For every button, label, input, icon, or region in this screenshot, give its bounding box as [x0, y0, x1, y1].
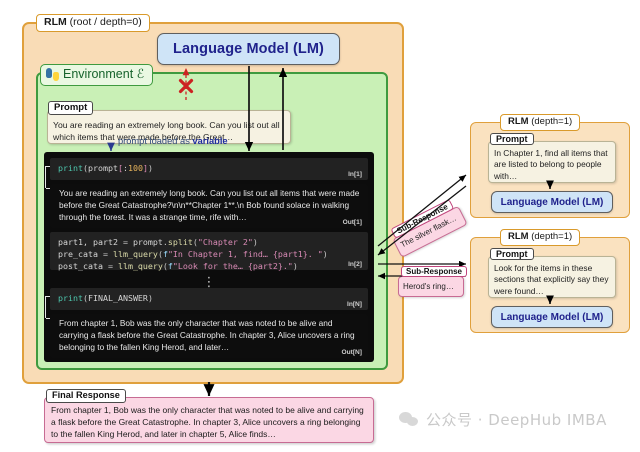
language-model-label-b: Language Model (LM) [501, 312, 604, 323]
sub-prompt-label-b: Prompt [490, 248, 534, 260]
sub-response-text-b: Herod's ring… [403, 282, 459, 292]
cell-connector-1 [45, 166, 46, 188]
language-model-label-a: Language Model (LM) [501, 197, 604, 208]
notebook-in-label-3: In[N] [347, 301, 362, 308]
sub-prompt-text-b: Look for the items in these sections tha… [494, 263, 610, 297]
notebook-cell-out-3: From chapter 1, Bob was the only charact… [50, 314, 368, 358]
sub-response-label-b-text: Sub-Response [406, 267, 462, 276]
final-response-box: From chapter 1, Bob was the only charact… [44, 397, 374, 443]
rlm-depth1-container-a: In Chapter 1, find all items that are li… [470, 122, 630, 218]
notebook-cell-in-2[interactable]: part1, part2 = prompt.split("Chapter 2")… [50, 232, 368, 270]
language-model-box-a[interactable]: Language Model (LM) [491, 191, 613, 213]
notebook-in-label-2: In[2] [348, 261, 362, 268]
blocked-x-icon [178, 78, 194, 94]
rlm-root-label-rest: (root / depth=0) [67, 16, 142, 28]
final-response-text: From chapter 1, Bob was the only charact… [51, 405, 367, 441]
sub-prompt-label-a-text: Prompt [496, 134, 528, 144]
cell-connector-3 [45, 296, 46, 318]
watermark-text: 公众号 · DeepHub IMBA [426, 409, 607, 430]
language-model-root-label: Language Model (LM) [173, 41, 324, 57]
rlm-root-label: RLM (root / depth=0) [36, 14, 150, 32]
language-model-box-b[interactable]: Language Model (LM) [491, 306, 613, 328]
final-response-label: Final Response [46, 389, 126, 403]
rlm-depth1-label-b-bold: RLM [508, 231, 529, 242]
notebook-output-3: From chapter 1, Bob was the only charact… [59, 318, 361, 353]
rlm-depth1-label-b: RLM (depth=1) [500, 229, 580, 246]
prompt-loaded-note: prompt loaded as variable [118, 136, 228, 146]
rlm-depth1-label-a-rest: (depth=1) [529, 116, 573, 127]
notebook-panel: print(prompt[:100]) In[1] You are readin… [44, 152, 374, 362]
sub-prompt-label-a: Prompt [490, 133, 534, 145]
prompt-loaded-note-emphasis: variable [192, 136, 227, 146]
notebook-cell-in-3[interactable]: print(FINAL_ANSWER) In[N] [50, 288, 368, 310]
rlm-depth1-label-a: RLM (depth=1) [500, 114, 580, 131]
rlm-root-label-bold: RLM [44, 16, 67, 28]
notebook-ellipsis: ⋮ [44, 279, 374, 284]
notebook-in-label-1: In[1] [348, 171, 362, 178]
notebook-out-label-1: Out[1] [343, 219, 362, 226]
rlm-depth1-label-b-rest: (depth=1) [529, 231, 573, 242]
wechat-icon [399, 412, 419, 428]
rlm-depth1-container-b: Look for the items in these sections tha… [470, 237, 630, 333]
sub-response-bubble-b: Herod's ring… [398, 276, 464, 297]
diagram-canvas: RLM (root / depth=0) Language Model (LM)… [0, 0, 640, 452]
prompt-bubble-label-text: Prompt [54, 102, 87, 113]
language-model-root-box[interactable]: Language Model (LM) [157, 33, 340, 65]
sub-response-label-b: Sub-Response [401, 266, 467, 277]
notebook-code-3: print(FINAL_ANSWER) [58, 292, 153, 304]
environment-label: Environment ℰ [40, 64, 153, 86]
prompt-loaded-note-prefix: prompt loaded as [118, 136, 192, 146]
notebook-code-1: print(prompt[:100]) [58, 162, 153, 174]
python-logo-icon [46, 68, 59, 81]
sub-prompt-text-a: In Chapter 1, find all items that are li… [494, 148, 610, 182]
notebook-cell-in-1[interactable]: print(prompt[:100]) In[1] [50, 158, 368, 180]
sub-prompt-bubble-a: In Chapter 1, find all items that are li… [488, 141, 616, 183]
notebook-cell-out-1: You are reading an extremely long book. … [50, 184, 368, 228]
prompt-bubble-label: Prompt [48, 101, 93, 115]
notebook-output-1: You are reading an extremely long book. … [59, 188, 361, 223]
environment-label-text: Environment ℰ [63, 67, 144, 83]
notebook-out-label-3: Out[N] [341, 349, 362, 356]
watermark: 公众号 · DeepHub IMBA [399, 409, 607, 430]
sub-prompt-bubble-b: Look for the items in these sections tha… [488, 256, 616, 298]
notebook-code-2: part1, part2 = prompt.split("Chapter 2")… [58, 236, 328, 272]
sub-prompt-label-b-text: Prompt [496, 249, 528, 259]
final-response-label-text: Final Response [52, 390, 120, 400]
rlm-depth1-label-a-bold: RLM [508, 116, 529, 127]
